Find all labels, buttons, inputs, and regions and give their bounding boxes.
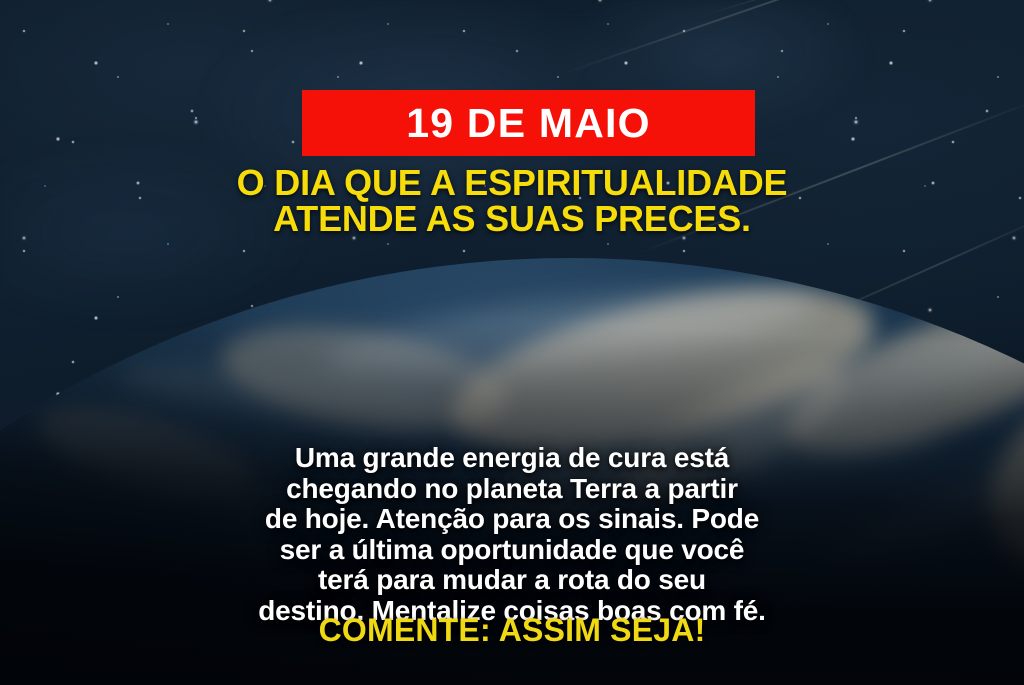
headline: O DIA QUE A ESPIRITUALIDADE ATENDE AS SU… [0,165,1024,237]
poster-canvas: 19 DE MAIO O DIA QUE A ESPIRITUALIDADE A… [0,0,1024,685]
body-line-4: ser a última oportunidade que você [0,535,1024,566]
headline-line-2: ATENDE AS SUAS PRECES. [0,201,1024,237]
body-paragraph: Uma grande energia de cura está chegando… [0,443,1024,626]
body-line-3: de hoje. Atenção para os sinais. Pode [0,504,1024,535]
body-line-5: terá para mudar a rota do seu [0,565,1024,596]
date-banner: 19 DE MAIO [302,90,755,156]
body-line-2: chegando no planeta Terra a partir [0,474,1024,505]
call-to-action-text: COMENTE: ASSIM SEJA! [0,613,1024,647]
body-line-1: Uma grande energia de cura está [0,443,1024,474]
headline-line-1: O DIA QUE A ESPIRITUALIDADE [0,165,1024,201]
date-banner-text: 19 DE MAIO [406,103,650,144]
